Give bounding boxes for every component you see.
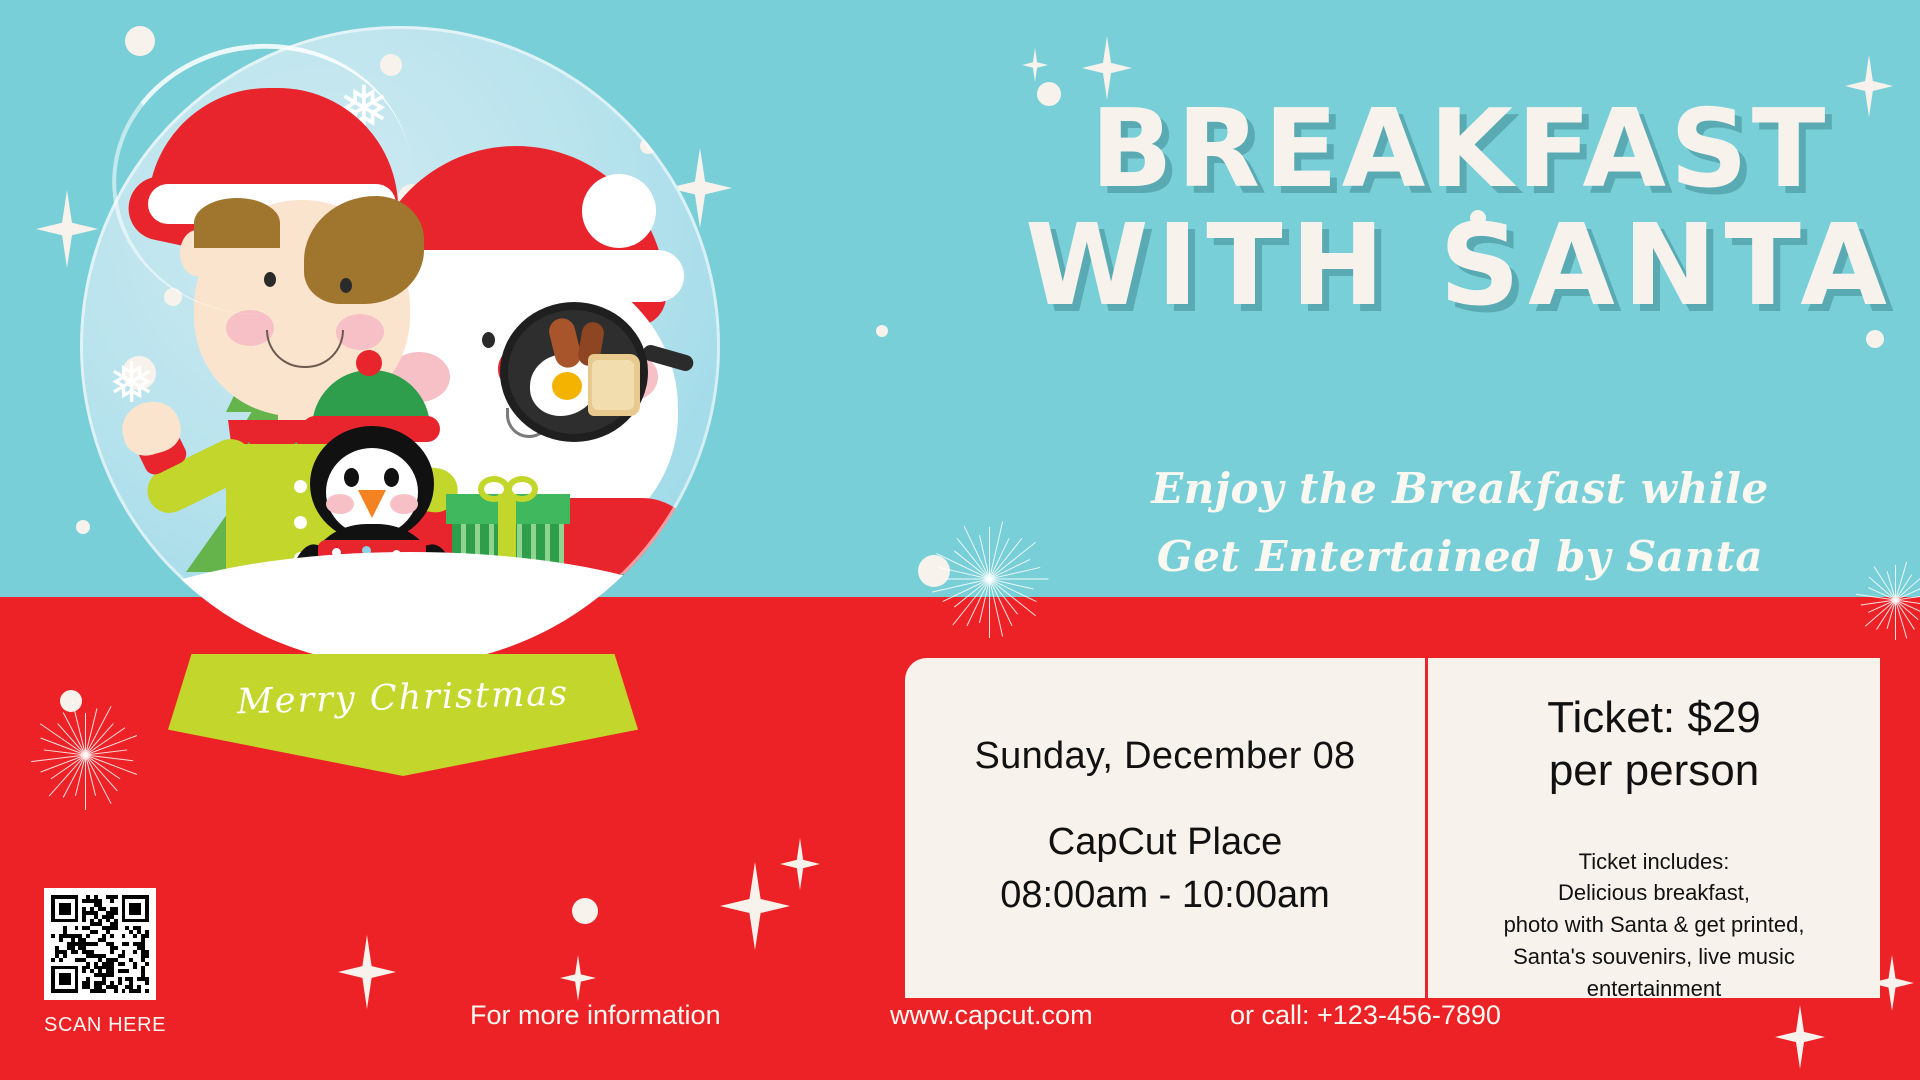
ticket-card: Ticket: $29 per person Ticket includes: …	[1428, 658, 1880, 998]
globe-snow-dot	[104, 526, 122, 544]
ticket-includes-line: photo with Santa & get printed,	[1504, 909, 1805, 941]
page-title: BREAKFAST WITH SANTA	[1020, 95, 1900, 323]
snow-globe-illustration: ❅ ❅ ❅	[72, 18, 732, 808]
ticket-price: Ticket: $29 per person	[1547, 692, 1761, 798]
ticket-includes-line: Santa's souvenirs, live music	[1504, 941, 1805, 973]
footer-more-information: For more information	[470, 1000, 890, 1031]
event-venue-block: CapCut Place 08:00am - 10:00am	[1000, 816, 1330, 921]
ticket-includes-list: Ticket includes: Delicious breakfast, ph…	[1504, 846, 1805, 1005]
decor-dot	[876, 325, 888, 337]
scan-here-label: SCAN HERE	[44, 1014, 166, 1037]
subtitle-line-1: Enjoy the Breakfast while	[1020, 455, 1900, 523]
qr-canvas	[51, 895, 149, 993]
qr-block: SCAN HERE	[44, 888, 166, 1037]
subtitle-line-2: Get Entertained by Santa	[1020, 523, 1900, 591]
event-details-card: Sunday, December 08 CapCut Place 08:00am…	[905, 658, 1425, 998]
info-cards-panel: Sunday, December 08 CapCut Place 08:00am…	[905, 658, 1880, 998]
ticket-includes-line: Delicious breakfast,	[1504, 877, 1805, 909]
ticket-price-line-2: per person	[1547, 745, 1761, 798]
event-time: 08:00am - 10:00am	[1000, 869, 1330, 921]
ticket-includes-line: Ticket includes:	[1504, 846, 1805, 878]
globe-snow-dot	[590, 68, 604, 82]
decor-dot	[1866, 330, 1884, 348]
event-date: Sunday, December 08	[975, 735, 1356, 778]
title-line-1: BREAKFAST	[1020, 95, 1900, 205]
qr-code[interactable]	[44, 888, 156, 1000]
footer-row: For more information www.capcut.com or c…	[470, 1000, 1870, 1031]
ticket-price-line-1: Ticket: $29	[1547, 692, 1761, 745]
event-venue: CapCut Place	[1000, 816, 1330, 868]
poster-canvas: ❅ ❅ ❅	[0, 0, 1920, 1080]
subtitle: Enjoy the Breakfast while Get Entertaine…	[1020, 455, 1900, 591]
footer-phone[interactable]: or call: +123-456-7890	[1230, 1000, 1630, 1031]
decor-dot	[572, 898, 598, 924]
footer-website[interactable]: www.capcut.com	[890, 1000, 1230, 1031]
title-line-2: WITH SANTA	[1020, 209, 1900, 323]
